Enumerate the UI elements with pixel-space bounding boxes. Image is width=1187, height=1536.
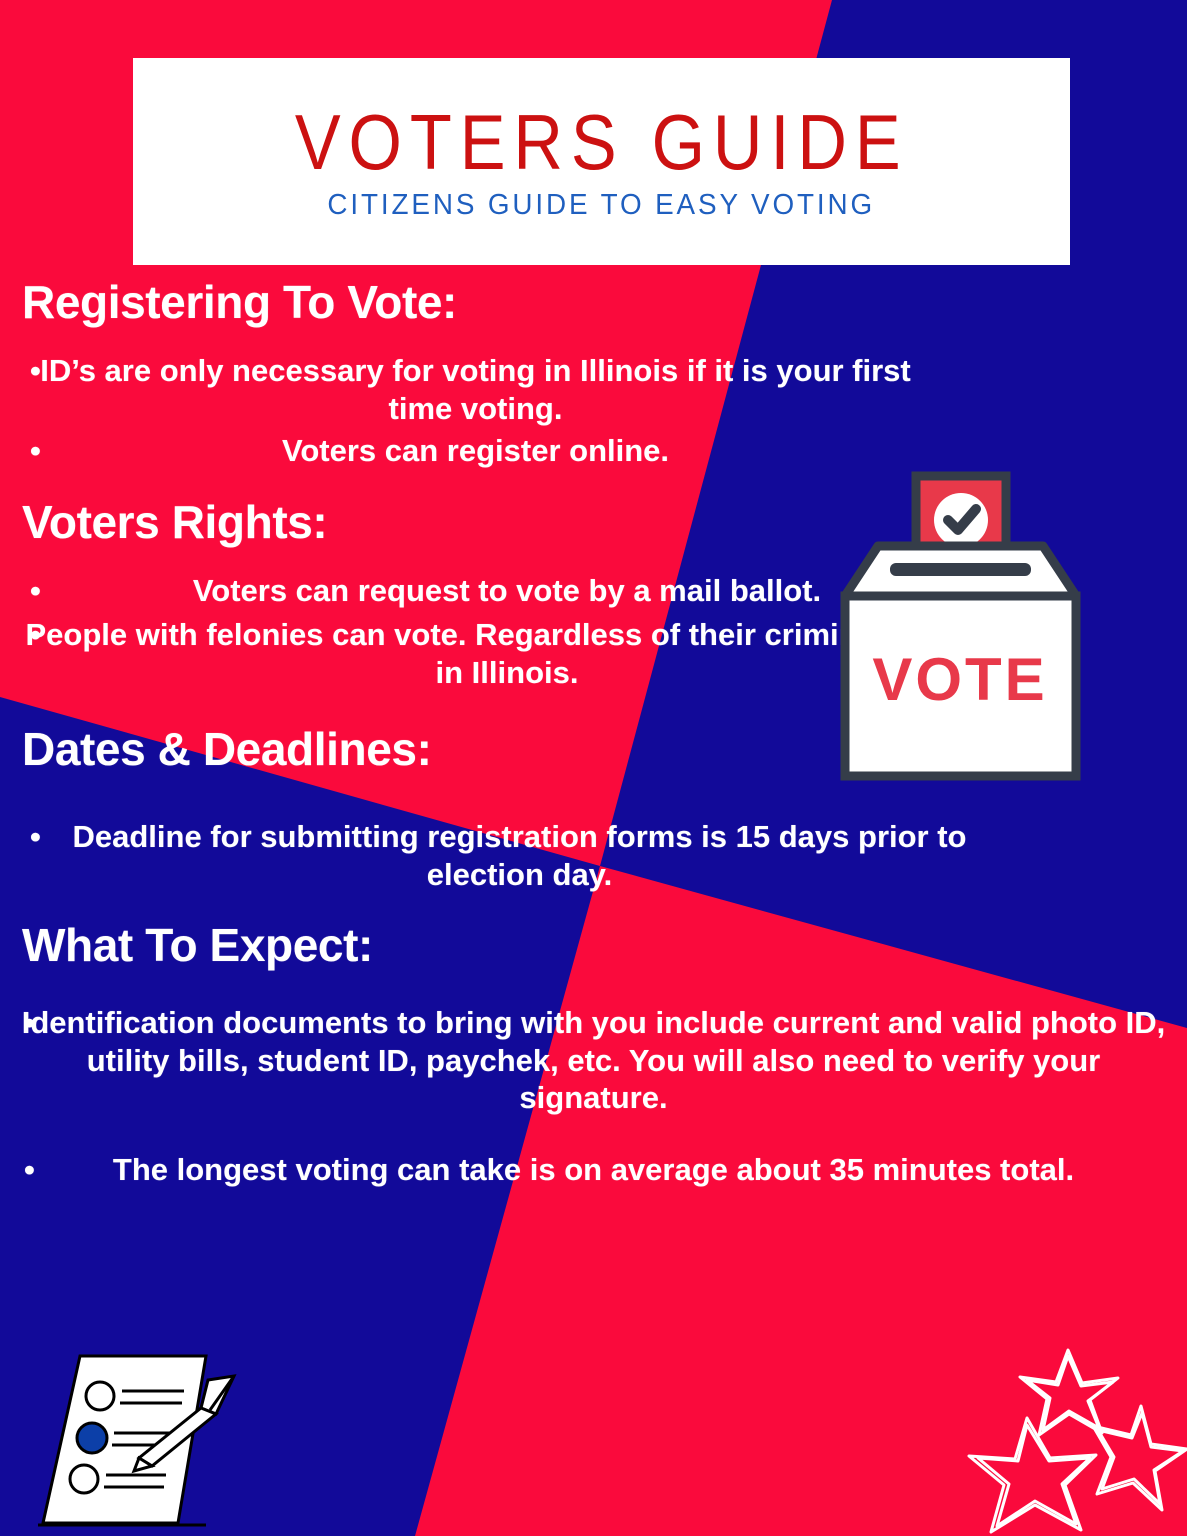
page-title: VOTERS GUIDE (295, 103, 909, 181)
list-item: • Voters can register online. (22, 432, 929, 470)
list-item: • Deadline for submitting registration f… (22, 818, 1017, 894)
bullet-glyph: • (30, 352, 41, 390)
title-card: VOTERS GUIDE CITIZENS GUIDE TO EASY VOTI… (133, 58, 1070, 265)
selected-option-marker (77, 1423, 107, 1453)
list-item: • ID’s are only necessary for voting in … (22, 352, 929, 428)
list-item-text: Voters can request to vote by a mail bal… (193, 573, 821, 608)
bullet-list-registering: • ID’s are only necessary for voting in … (0, 352, 1187, 469)
bullet-glyph: • (24, 1004, 35, 1042)
list-item-text: ID’s are only necessary for voting in Il… (40, 353, 911, 426)
bullet-glyph: • (30, 572, 41, 610)
bullet-glyph: • (30, 616, 41, 654)
section-heading-what-to-expect: What To Expect: (0, 921, 1187, 969)
section-what-to-expect: What To Expect: • Identification documen… (0, 921, 1187, 1189)
page-subtitle: CITIZENS GUIDE TO EASY VOTING (328, 191, 876, 220)
list-item-text: Deadline for submitting registration for… (73, 819, 967, 892)
list-item-text: The longest voting can take is on averag… (113, 1152, 1074, 1187)
bullet-glyph: • (30, 818, 41, 856)
section-registering-to-vote: Registering To Vote: • ID’s are only nec… (0, 278, 1187, 470)
bullet-glyph: • (24, 1151, 35, 1189)
three-stars-outline-icon (965, 1338, 1187, 1536)
voters-guide-poster: VOTERS GUIDE CITIZENS GUIDE TO EASY VOTI… (0, 0, 1187, 1536)
bullet-glyph: • (30, 432, 41, 470)
list-item: • Identification documents to bring with… (10, 1004, 1177, 1117)
list-item-text: Voters can register online. (282, 433, 669, 468)
bullet-list-dates-deadlines: • Deadline for submitting registration f… (0, 818, 1187, 894)
vote-label: VOTE (872, 646, 1047, 713)
ballot-paper-with-pen-icon (38, 1348, 273, 1536)
section-heading-registering: Registering To Vote: (0, 278, 1187, 326)
list-item: • The longest voting can take is on aver… (10, 1151, 1177, 1189)
ballot-box-with-check-icon: VOTE (828, 468, 1093, 788)
list-item-text: Identification documents to bring with y… (22, 1005, 1166, 1116)
bullet-list-what-to-expect: • Identification documents to bring with… (0, 1004, 1187, 1189)
